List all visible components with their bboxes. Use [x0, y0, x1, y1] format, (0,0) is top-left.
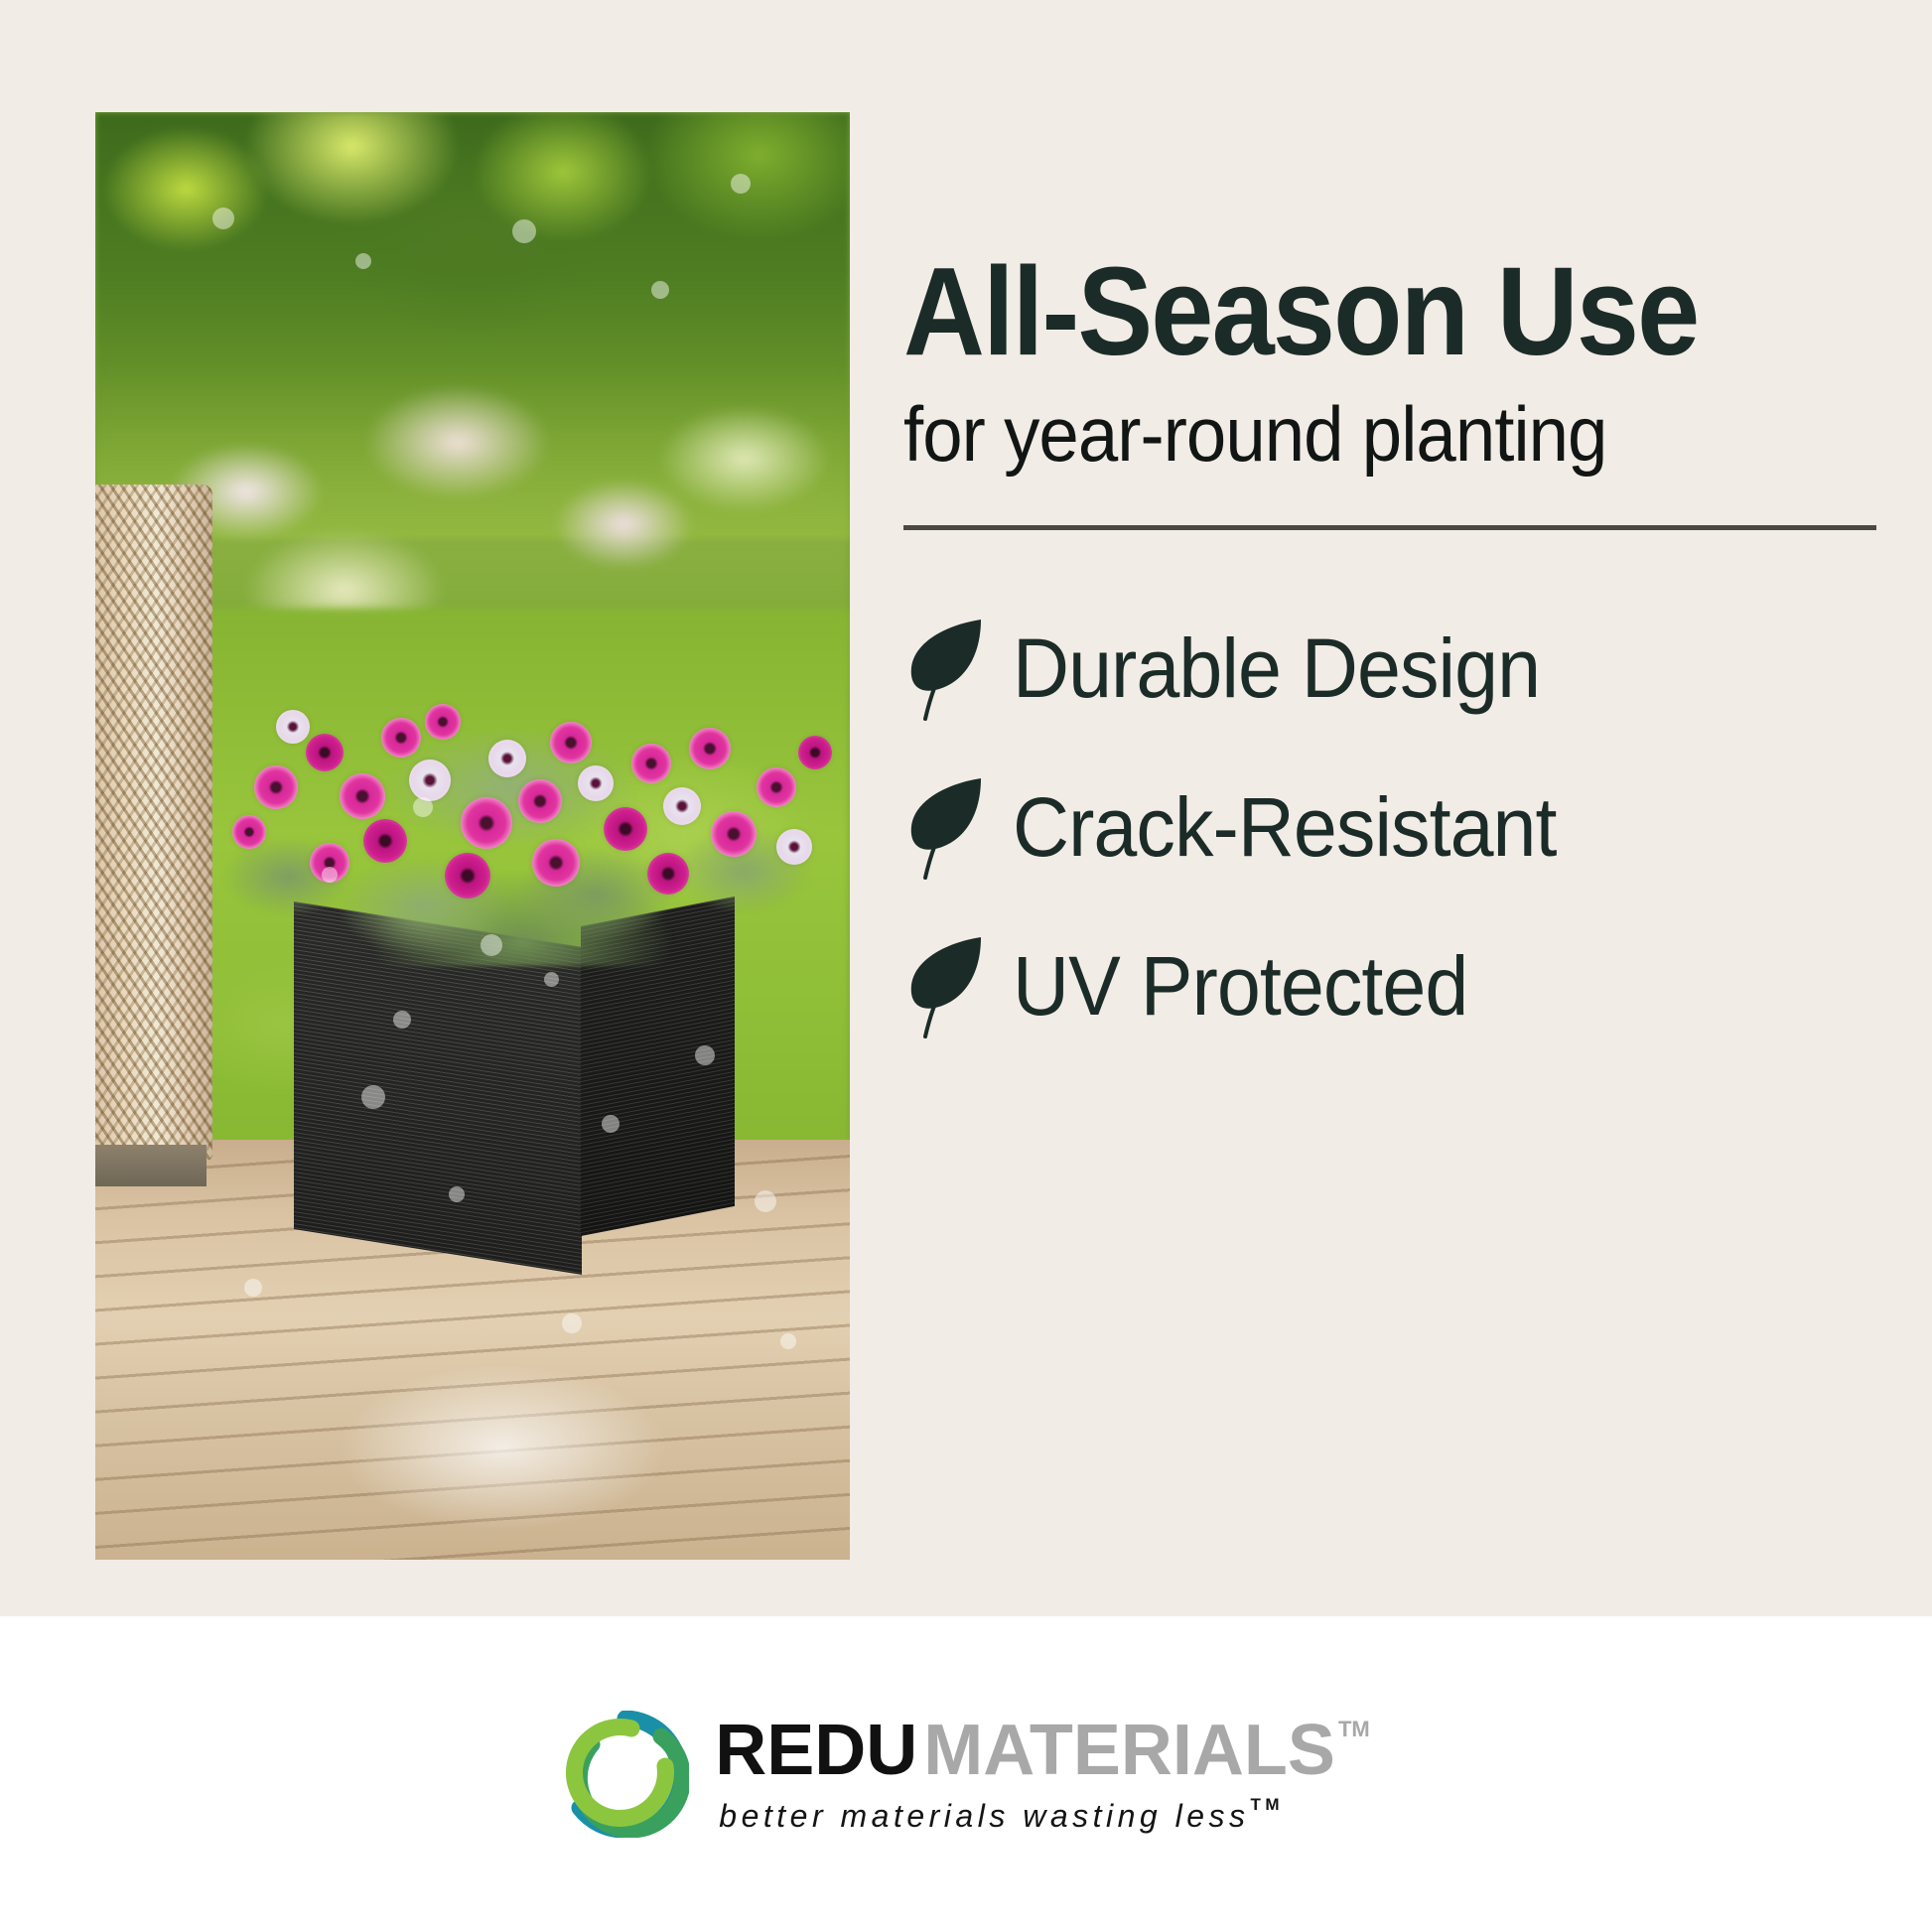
feature-label: UV Protected	[1013, 938, 1467, 1035]
brand-secondary: MATERIALS	[923, 1715, 1335, 1786]
feature-item: UV Protected	[903, 907, 1886, 1066]
divider	[903, 525, 1876, 530]
footer-bar: REDU MATERIALS TM better materials wasti…	[0, 1616, 1932, 1932]
feature-label: Crack-Resistant	[1013, 779, 1557, 876]
hero-text-column: All-Season Use for year-round planting D…	[903, 248, 1886, 1082]
page-subtitle: for year-round planting	[903, 392, 1818, 476]
feature-list: Durable Design Crack-Resistant	[903, 590, 1886, 1066]
feature-item: Durable Design	[903, 590, 1886, 749]
leaf-icon	[903, 927, 999, 1046]
feature-label: Durable Design	[1013, 621, 1540, 717]
tagline-trademark: TM	[1251, 1796, 1285, 1813]
photo-petunia-blooms	[214, 648, 830, 946]
page-title: All-Season Use	[903, 248, 1788, 376]
photo-wicker-column	[95, 484, 212, 1160]
redu-swirl-icon	[562, 1711, 689, 1838]
brand-tagline-row: better materials wasting less TM	[719, 1798, 1369, 1835]
brand-trademark: TM	[1338, 1719, 1370, 1740]
infographic-canvas: All-Season Use for year-round planting D…	[0, 0, 1932, 1932]
brand-tagline: better materials wasting less	[719, 1798, 1249, 1835]
hero-panel: All-Season Use for year-round planting D…	[0, 0, 1932, 1616]
product-photo	[95, 112, 850, 1560]
brand-primary: REDU	[715, 1715, 917, 1786]
leaf-icon	[903, 768, 999, 888]
brand-text: REDU MATERIALS TM better materials wasti…	[715, 1715, 1369, 1835]
photo-deck-sun-glow	[274, 1333, 731, 1560]
feature-item: Crack-Resistant	[903, 749, 1886, 907]
brand-logo: REDU MATERIALS TM better materials wasti…	[562, 1711, 1369, 1838]
brand-wordmark: REDU MATERIALS TM	[715, 1715, 1369, 1786]
leaf-icon	[903, 610, 999, 729]
photo-wicker-column-foot	[95, 1145, 207, 1186]
